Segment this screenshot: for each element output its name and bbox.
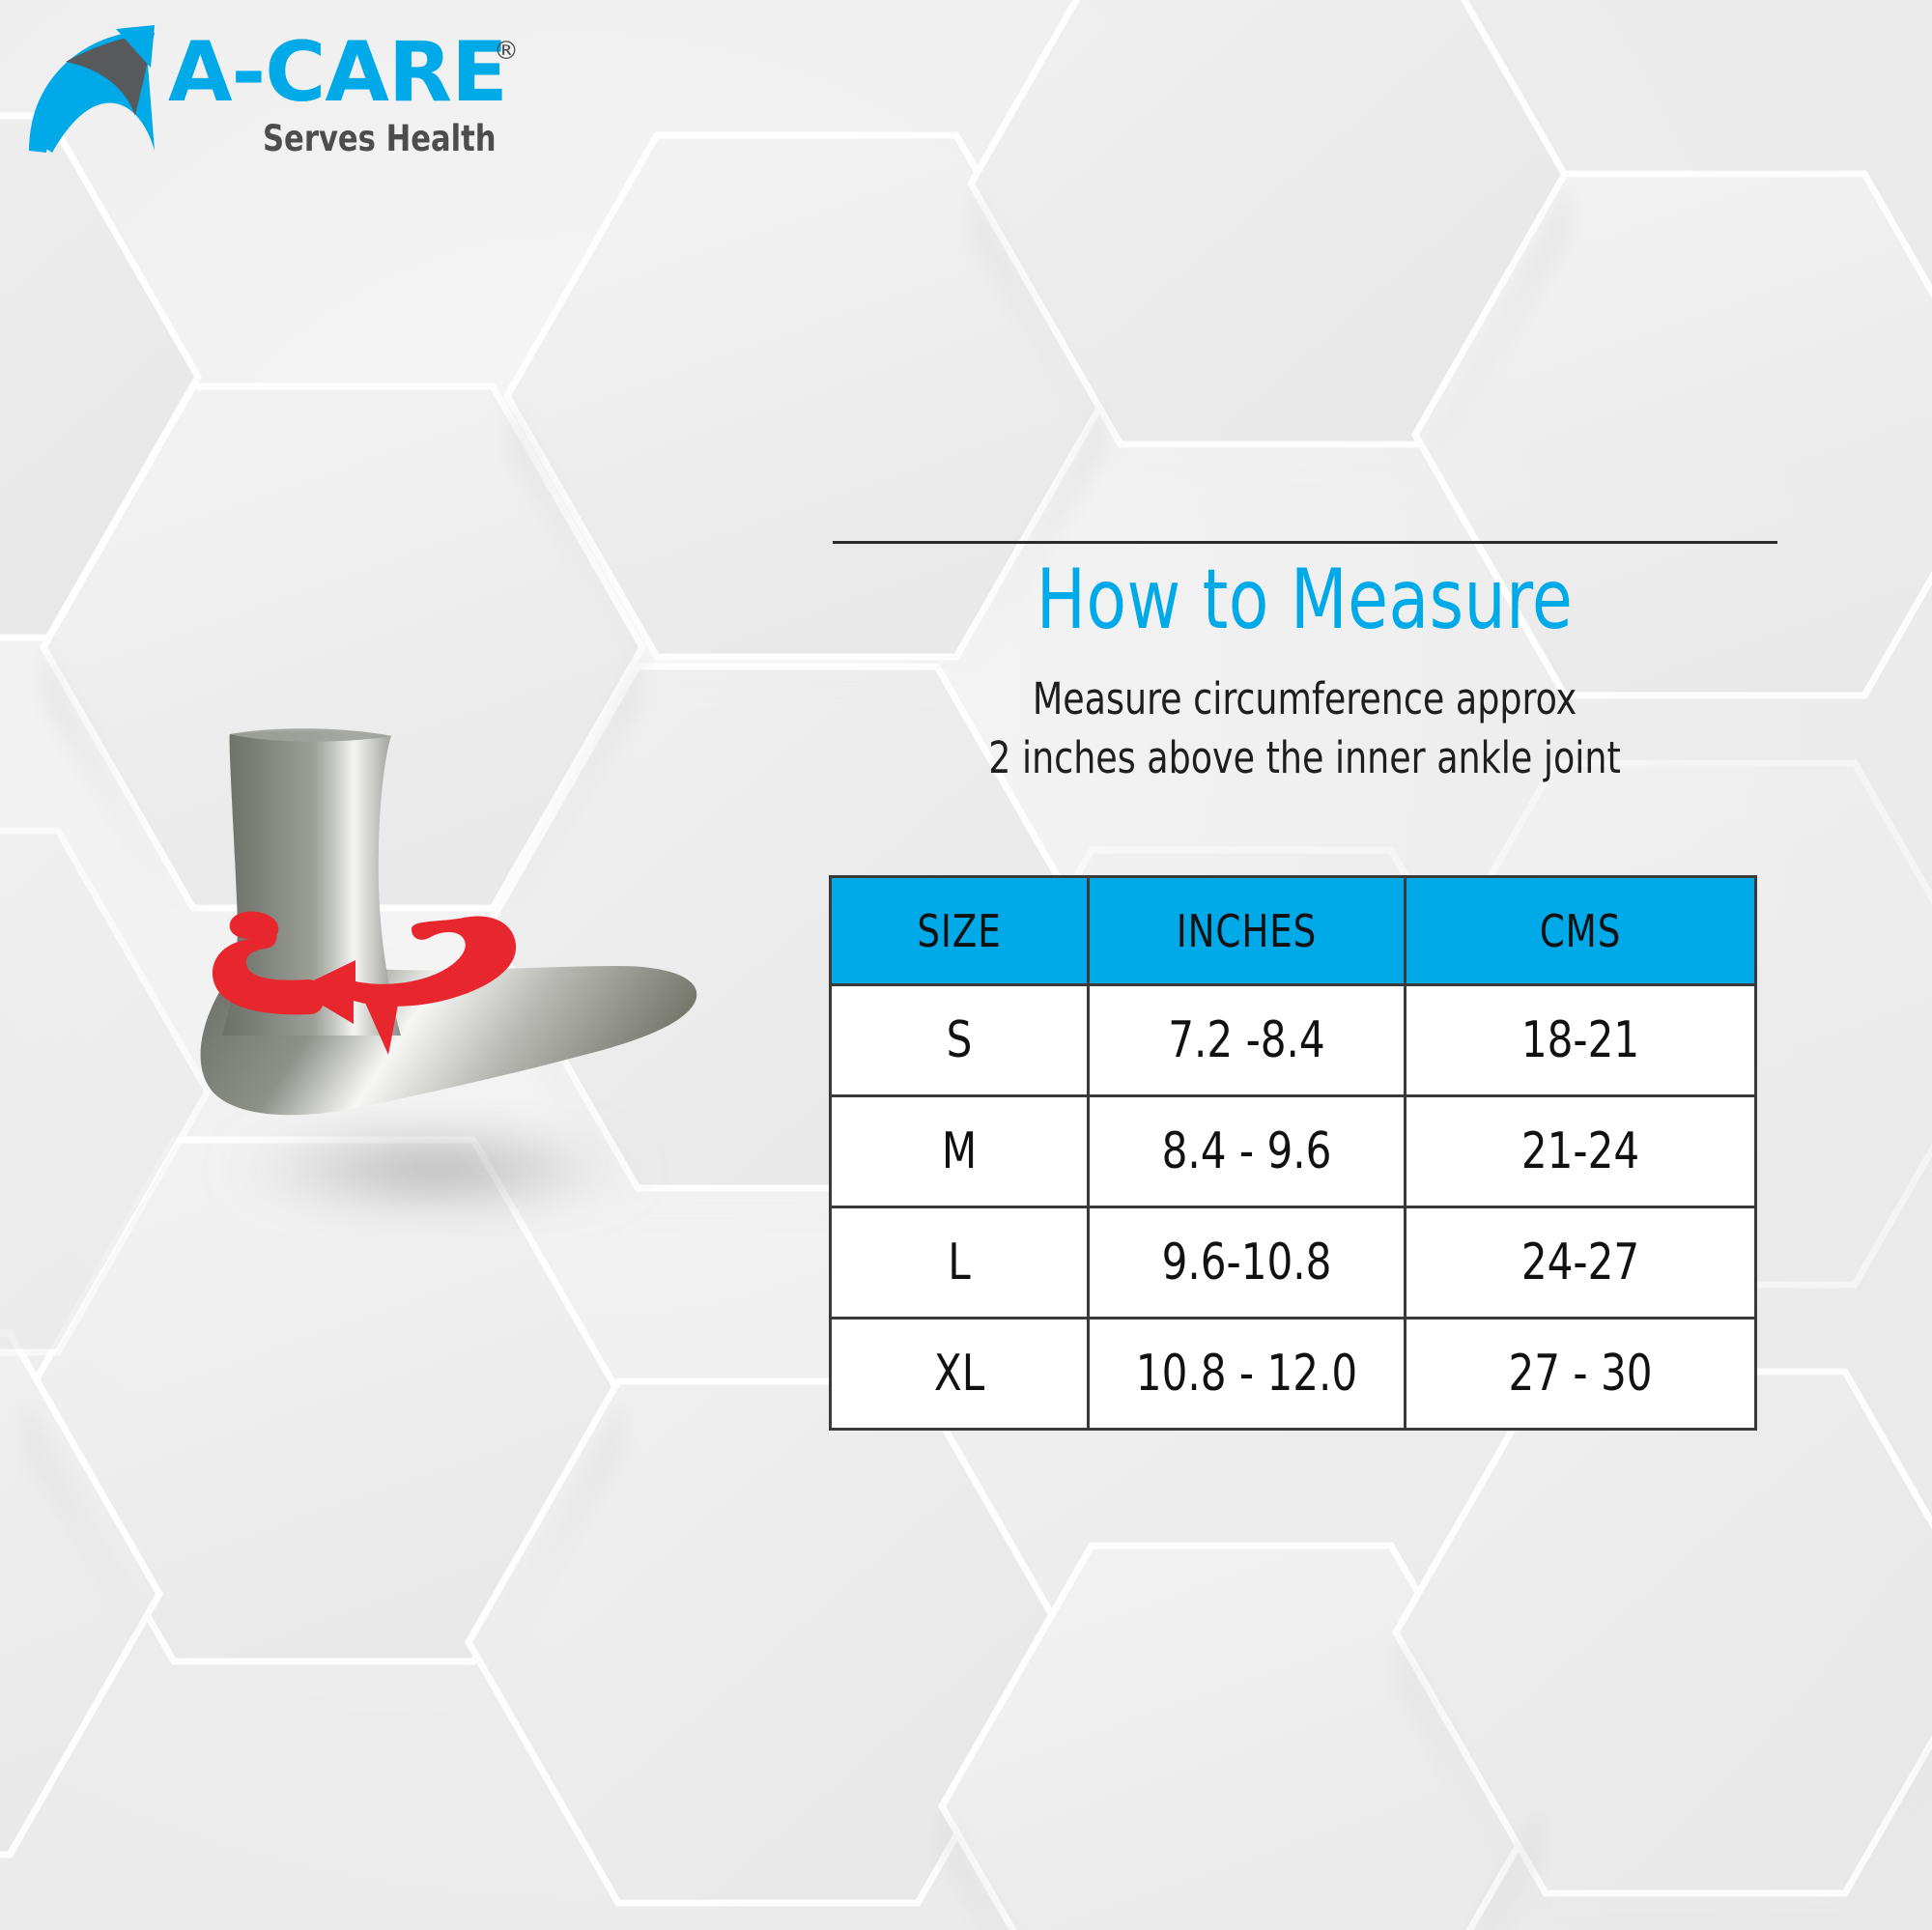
cell-size-label: XL	[844, 1345, 1074, 1403]
cell-inches-label: 8.4 - 9.6	[1105, 1122, 1388, 1180]
measure-instructions: Measure circumference approx 2 inches ab…	[876, 670, 1733, 788]
cell-inches: 10.8 - 12.0	[1089, 1319, 1406, 1430]
cell-size-label: L	[844, 1234, 1074, 1291]
cell-size-label: M	[844, 1122, 1074, 1180]
how-to-measure-panel: How to Measure Measure circumference app…	[829, 541, 1780, 787]
cell-inches-label: 7.2 -8.4	[1105, 1011, 1388, 1069]
cell-cms: 24-27	[1406, 1207, 1756, 1319]
cell-cms: 27 - 30	[1406, 1319, 1756, 1430]
cell-size: M	[831, 1096, 1089, 1207]
logo-wordmark: A-CARE	[168, 31, 507, 114]
column-header-cms-label: CMS	[1424, 905, 1737, 957]
instruction-line-2: 2 inches above the inner ankle joint	[876, 729, 1733, 788]
column-header-cms: CMS	[1406, 877, 1756, 985]
table-header-row: SIZE INCHES CMS	[831, 877, 1756, 985]
registered-trademark-icon: ®	[494, 37, 519, 66]
cell-size: S	[831, 985, 1089, 1096]
cell-inches: 7.2 -8.4	[1089, 985, 1406, 1096]
cell-inches-label: 10.8 - 12.0	[1105, 1345, 1388, 1403]
cell-cms: 18-21	[1406, 985, 1756, 1096]
cell-cms: 21-24	[1406, 1096, 1756, 1207]
table-row: M 8.4 - 9.6 21-24	[831, 1096, 1756, 1207]
ground-shadow	[227, 1138, 642, 1200]
size-chart-table: SIZE INCHES CMS S 7.2 -8.4 18-21 M 8.4 -…	[829, 875, 1757, 1431]
foot-ankle-measure-illustration	[145, 676, 821, 1546]
instruction-line-1: Measure circumference approx	[876, 670, 1733, 729]
column-header-inches: INCHES	[1089, 877, 1406, 985]
column-header-size-label: SIZE	[844, 905, 1074, 957]
cell-cms-label: 18-21	[1424, 1011, 1737, 1069]
cell-inches-label: 9.6-10.8	[1105, 1234, 1388, 1291]
logo-tagline: Serves Health	[263, 118, 497, 159]
cell-cms-label: 27 - 30	[1424, 1345, 1737, 1403]
table-row: S 7.2 -8.4 18-21	[831, 985, 1756, 1096]
acare-swoosh-logo-icon	[23, 23, 168, 158]
column-header-inches-label: INCHES	[1105, 905, 1388, 957]
cell-size: L	[831, 1207, 1089, 1319]
cell-size: XL	[831, 1319, 1089, 1430]
table-row: L 9.6-10.8 24-27	[831, 1207, 1756, 1319]
cell-inches: 8.4 - 9.6	[1089, 1096, 1406, 1207]
cell-cms-label: 24-27	[1424, 1234, 1737, 1291]
table-row: XL 10.8 - 12.0 27 - 30	[831, 1319, 1756, 1430]
title-divider-rule	[833, 541, 1777, 544]
column-header-size: SIZE	[831, 877, 1089, 985]
cell-size-label: S	[844, 1011, 1074, 1069]
page-title: How to Measure	[886, 555, 1723, 645]
cell-inches: 9.6-10.8	[1089, 1207, 1406, 1319]
cell-cms-label: 21-24	[1424, 1122, 1737, 1180]
brand-logo: A-CARE ® Serves Health	[23, 17, 526, 162]
